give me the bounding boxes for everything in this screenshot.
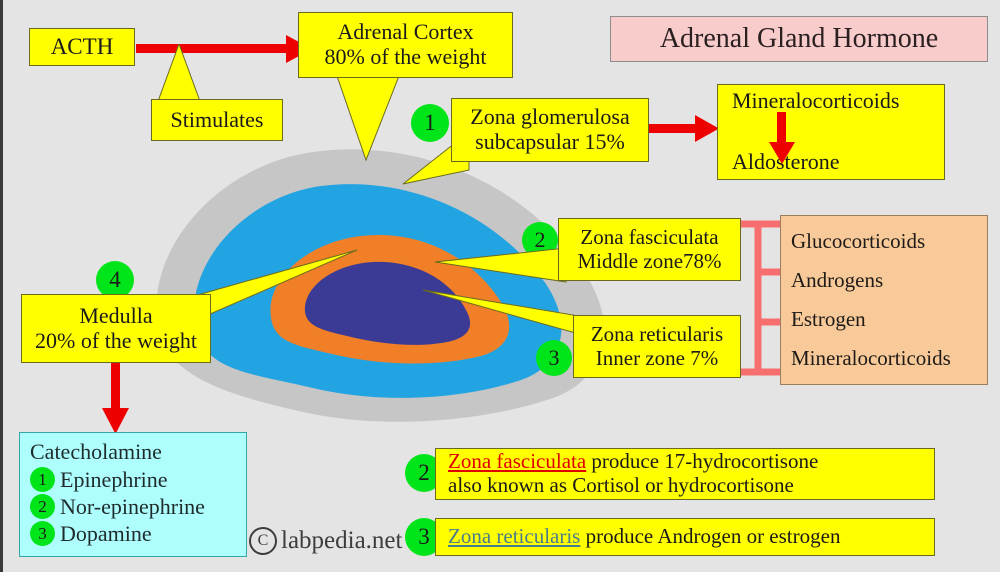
note-reticularis-line-1: Zona reticularis produce Androgen or est…	[448, 525, 840, 549]
adrenal-cortex-box[interactable]: Adrenal Cortex 80% of the weight	[298, 12, 513, 78]
note-fasciculata-rest: produce 17-hydrocortisone	[586, 449, 818, 473]
medulla-line-1: Medulla	[79, 304, 152, 329]
page-title: Adrenal Gland Hormone	[610, 16, 988, 62]
zona-fasciculata-line-1: Zona fasciculata	[580, 226, 718, 250]
catecholamine-item: 1 Epinephrine	[30, 466, 246, 493]
catecholamine-marker-2: 2	[30, 494, 55, 519]
hormone-list-item: Glucocorticoids	[791, 229, 987, 254]
aldosterone-arrow-shaft	[777, 112, 786, 145]
medulla-pointer-tail	[199, 248, 359, 320]
medulla-line-2: 20% of the weight	[35, 329, 197, 354]
note-reticularis-link[interactable]: Zona reticularis	[448, 524, 580, 548]
glomerulosa-arrow-shaft	[649, 124, 699, 133]
catecholamine-marker-1: 1	[30, 467, 55, 492]
hormone-list-item: Mineralocorticoids	[791, 346, 987, 371]
reticularis-pointer-tail	[421, 286, 581, 336]
stimulates-pointer-tail	[151, 44, 211, 106]
note-fasciculata-line-1: Zona fasciculata produce 17-hydrocortiso…	[448, 450, 818, 474]
mineralocorticoids-label: Mineralocorticoids	[732, 89, 899, 114]
zona-glomerulosa-line-2: subcapsular 15%	[475, 130, 625, 155]
fasciculata-pointer-tail	[433, 246, 568, 284]
note-reticularis-rest: produce Androgen or estrogen	[580, 524, 840, 548]
catecholamine-item: 2 Nor-epinephrine	[30, 493, 246, 520]
zona-glomerulosa-line-1: Zona glomerulosa	[470, 105, 629, 130]
zona-reticularis-line-1: Zona reticularis	[591, 323, 723, 347]
medulla-box[interactable]: Medulla 20% of the weight	[21, 294, 211, 363]
medulla-arrow-head	[102, 408, 129, 434]
catecholamine-item-label: Dopamine	[60, 521, 152, 547]
marker-3-label: 3	[549, 345, 560, 371]
hormone-list-box: Glucocorticoids Androgens Estrogen Miner…	[780, 215, 988, 385]
hormone-list-item: Estrogen	[791, 307, 987, 332]
marker-3-reticularis: 3	[536, 340, 572, 376]
page-title-text: Adrenal Gland Hormone	[660, 23, 938, 55]
acth-box[interactable]: ACTH	[29, 28, 135, 66]
note-fasciculata-link[interactable]: Zona fasciculata	[448, 449, 586, 473]
zona-fasciculata-line-2: Middle zone78%	[577, 250, 721, 274]
zona-reticularis-box[interactable]: Zona reticularis Inner zone 7%	[573, 315, 741, 378]
aldosterone-arrow-head	[769, 142, 795, 164]
adrenal-cortex-line-2: 80% of the weight	[325, 45, 487, 70]
copyright-icon: C	[249, 527, 277, 555]
medulla-arrow-shaft	[111, 363, 120, 412]
catecholamine-marker-3: 3	[30, 521, 55, 546]
catecholamine-item-label: Nor-epinephrine	[60, 494, 205, 520]
catecholamine-item: 3 Dopamine	[30, 520, 246, 547]
copyright-watermark: C labpedia.net	[249, 527, 402, 555]
note-marker-2-label: 2	[418, 460, 430, 486]
note-marker-3-label: 3	[418, 524, 430, 550]
hormone-list-item: Androgens	[791, 268, 987, 293]
adrenal-cortex-line-1: Adrenal Cortex	[337, 20, 473, 45]
catecholamine-heading: Catecholamine	[30, 439, 246, 465]
glomerulosa-arrow-head	[695, 115, 719, 142]
diagram-canvas: Adrenal Gland Hormone ACTH Stimulates Ad…	[0, 0, 1000, 572]
stimulates-label: Stimulates	[171, 108, 264, 133]
zona-fasciculata-box[interactable]: Zona fasciculata Middle zone78%	[558, 218, 741, 281]
catecholamine-item-label: Epinephrine	[60, 467, 168, 493]
hormone-bracket	[738, 218, 784, 378]
stimulates-box[interactable]: Stimulates	[151, 99, 283, 141]
watermark-text: labpedia.net	[281, 527, 402, 555]
zona-glomerulosa-box[interactable]: Zona glomerulosa subcapsular 15%	[451, 98, 649, 162]
note-fasciculata-line-2: also known as Cortisol or hydrocortisone	[448, 474, 794, 498]
acth-label: ACTH	[51, 34, 114, 60]
note-box-fasciculata[interactable]: Zona fasciculata produce 17-hydrocortiso…	[435, 448, 935, 500]
mineralocorticoids-box[interactable]: Mineralocorticoids Aldosterone	[717, 84, 945, 180]
marker-4-label: 4	[109, 267, 121, 293]
catecholamine-box: Catecholamine 1 Epinephrine 2 Nor-epinep…	[19, 432, 247, 557]
note-box-reticularis[interactable]: Zona reticularis produce Androgen or est…	[435, 518, 935, 556]
zona-reticularis-line-2: Inner zone 7%	[596, 347, 718, 371]
